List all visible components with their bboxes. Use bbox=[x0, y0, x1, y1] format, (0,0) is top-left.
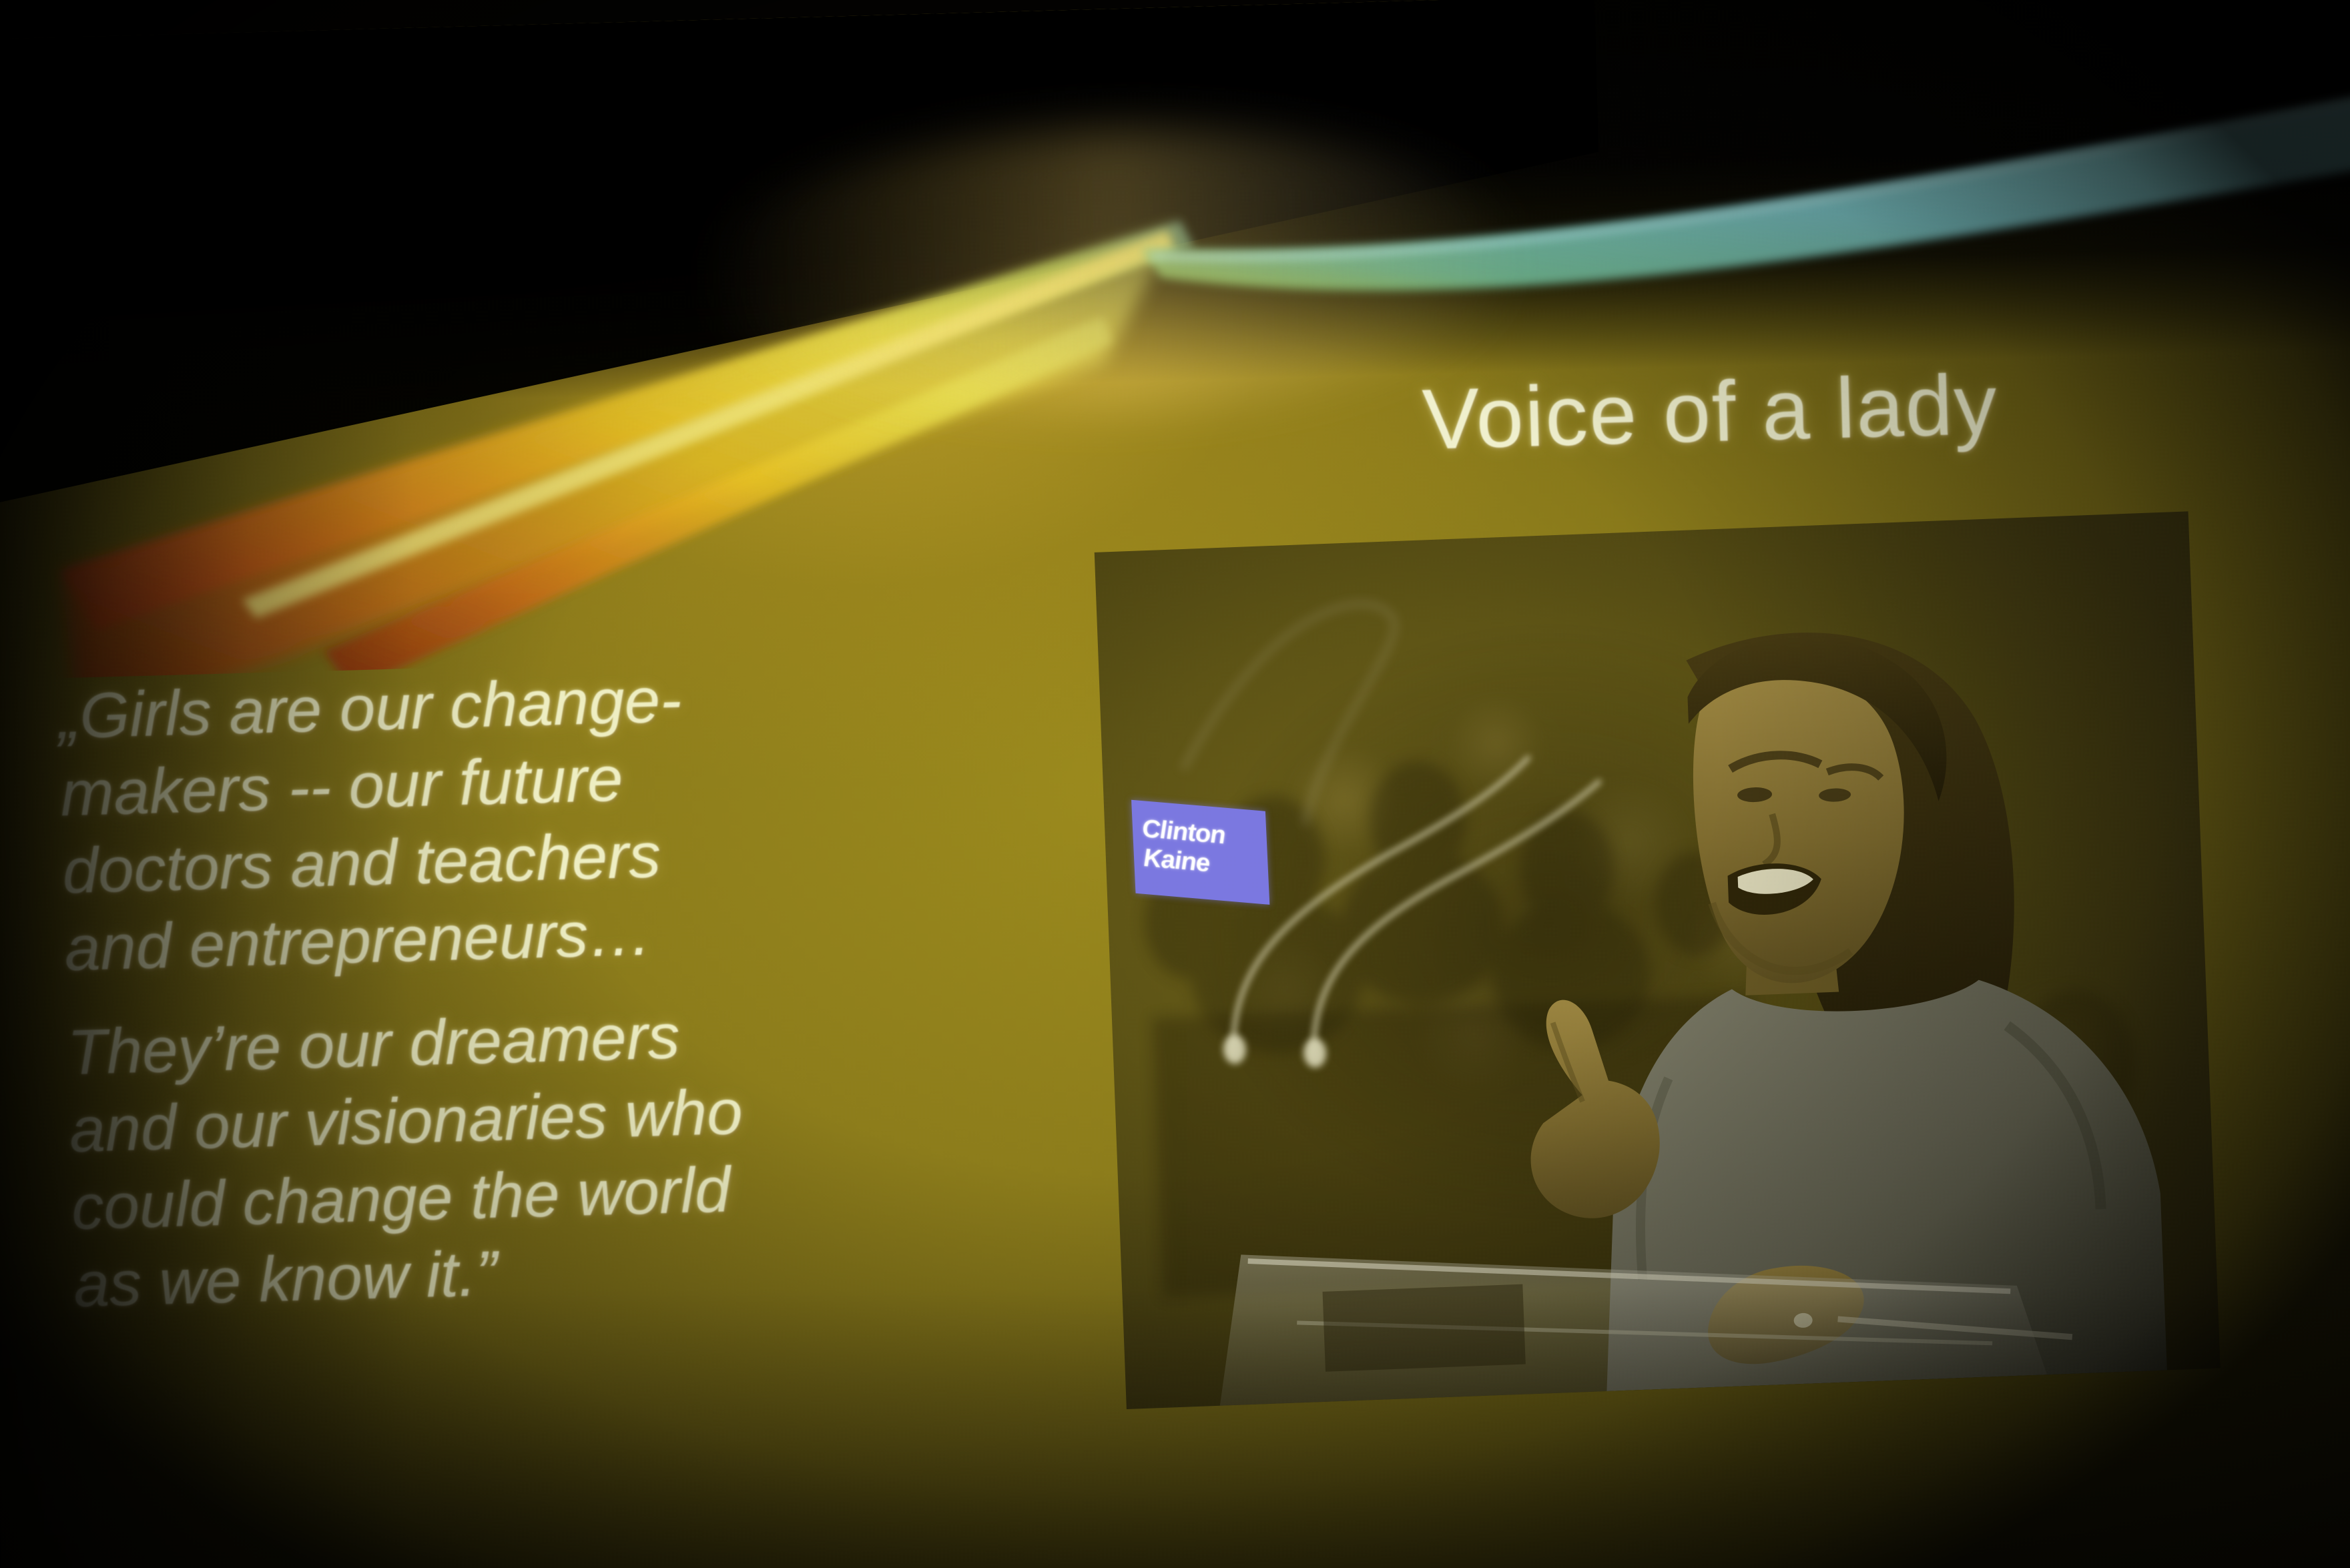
speaker-and-lectern bbox=[1095, 511, 2221, 1409]
quote-text-block: „Girls are our change- makers -- our fut… bbox=[57, 649, 1156, 1324]
quote-paragraph-2: They’re our dreamers and our visionaries… bbox=[67, 985, 1156, 1324]
projected-slide-photograph: Voice of a lady „Girls are our change- m… bbox=[0, 0, 2350, 1568]
slide-surface: Voice of a lady „Girls are our change- m… bbox=[0, 0, 2350, 1568]
quote-paragraph-1: „Girls are our change- makers -- our fut… bbox=[57, 649, 1147, 988]
slide-photo-speaker-at-podium: Clinton Kaine bbox=[1095, 511, 2221, 1409]
podium-placard-text: Clinton Kaine bbox=[1141, 814, 1227, 880]
podium-placard: Clinton Kaine bbox=[1131, 800, 1269, 905]
